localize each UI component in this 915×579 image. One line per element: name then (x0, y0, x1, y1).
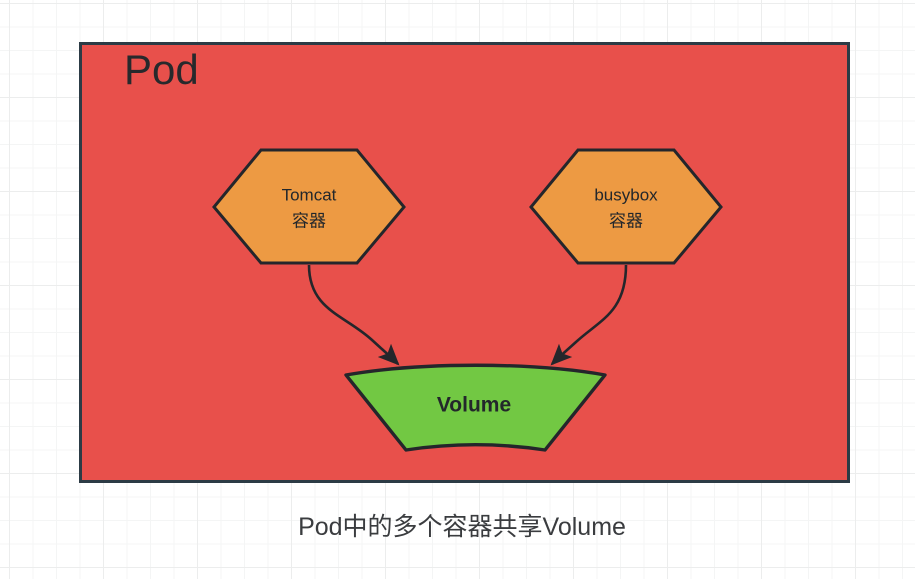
diagram-caption: Pod中的多个容器共享Volume (298, 513, 626, 541)
container-label-busybox-name: busybox (594, 185, 658, 204)
container-label-tomcat-subtitle: 容器 (292, 211, 326, 230)
container-label-busybox-subtitle: 容器 (609, 211, 643, 230)
diagram-canvas: Pod Tomcat 容器 busybox 容器 Volume Pod中的多个容… (0, 0, 915, 579)
pod-title: Pod (124, 46, 199, 93)
container-label-tomcat-name: Tomcat (282, 185, 337, 204)
volume-label: Volume (437, 394, 511, 417)
pod-volume-diagram: Pod Tomcat 容器 busybox 容器 Volume Pod中的多个容… (0, 0, 915, 579)
